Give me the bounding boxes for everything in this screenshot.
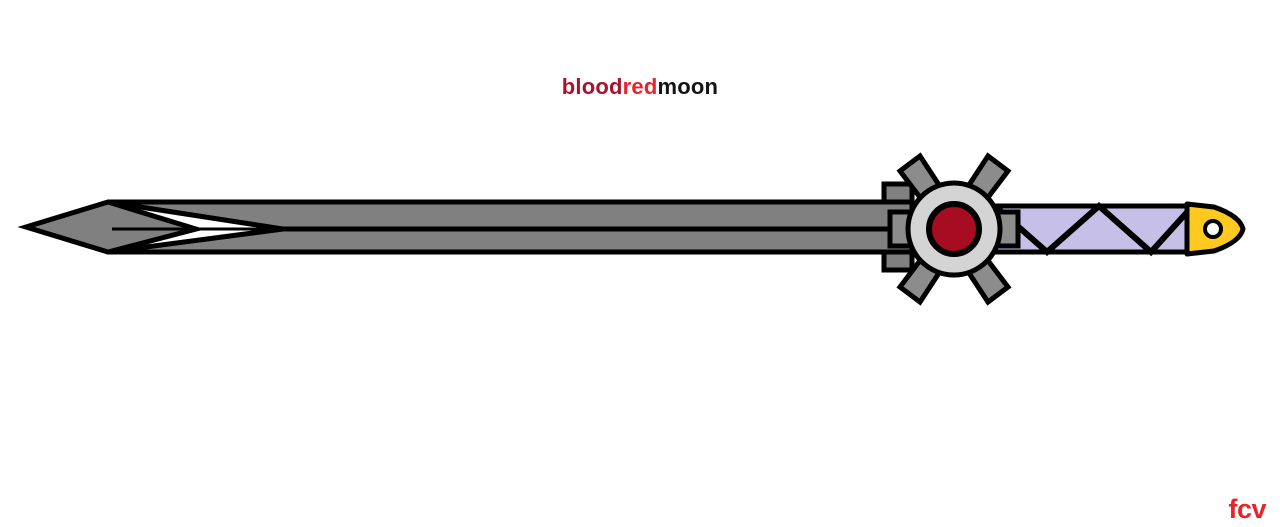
gem — [929, 204, 979, 254]
ricasso-upper-step — [884, 184, 912, 202]
watermark: fcv — [1228, 496, 1266, 523]
sword-illustration — [0, 0, 1280, 527]
blade-upper — [108, 184, 912, 229]
pommel-eye-icon — [1205, 221, 1221, 237]
ricasso-lower-step — [884, 252, 912, 270]
blade-lower — [108, 229, 912, 270]
